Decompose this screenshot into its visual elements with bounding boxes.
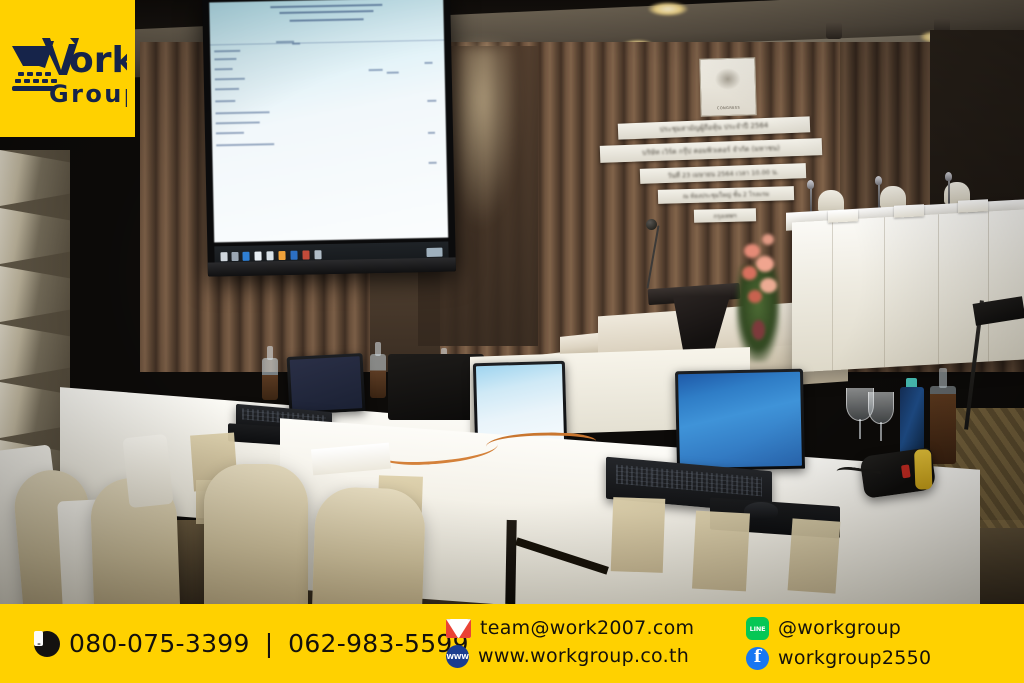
line-row: LINE @workgroup — [746, 617, 1004, 640]
footer-contact-column: team@work2007.com WWW www.workgroup.co.t… — [446, 619, 746, 668]
glass-stem — [880, 422, 882, 441]
skirt-fold — [938, 214, 939, 364]
projected-text-line — [216, 121, 260, 124]
water-bottle — [262, 346, 278, 400]
projected-text-line — [428, 132, 435, 134]
projected-text-line — [427, 100, 436, 102]
email-row: team@work2007.com — [446, 619, 746, 638]
taskbar-icon — [278, 251, 285, 260]
mobile-phone-icon — [34, 631, 60, 657]
laptop-lid — [675, 369, 805, 472]
logo-word-top: ork — [69, 40, 127, 81]
taskbar-icon — [220, 252, 227, 261]
taskbar-icon — [314, 250, 321, 259]
bottle-neck — [939, 368, 947, 388]
flower-petal — [760, 278, 777, 293]
www-icon-circle: WWW — [446, 645, 469, 668]
projected-text-line — [216, 132, 244, 135]
projected-text-line — [214, 58, 236, 60]
chair-sash — [692, 511, 750, 592]
venue-crest-plaque: CONGRESS — [699, 57, 756, 116]
curtain-light-glow — [446, 46, 516, 226]
name-card — [958, 199, 988, 213]
flower-petal — [742, 266, 757, 280]
taskbar-icon — [242, 252, 249, 261]
chair-frame — [122, 434, 173, 508]
glass-bowl — [868, 392, 894, 424]
projected-text-line — [429, 162, 437, 164]
table-microphone-head — [945, 172, 952, 181]
foreground-chair — [204, 464, 308, 610]
projected-text-line — [215, 78, 245, 81]
chair-sash — [788, 518, 841, 593]
wall-facet — [0, 324, 70, 380]
crest-caption: CONGRESS — [702, 105, 756, 110]
projected-text-line — [387, 72, 399, 74]
bottle-body — [930, 386, 956, 464]
laptop-lid — [287, 353, 366, 415]
table-microphone-head — [875, 176, 882, 185]
table-leg — [505, 520, 516, 604]
projected-text-line — [425, 62, 433, 64]
projected-text-line — [369, 69, 383, 71]
bottle-body — [262, 358, 278, 400]
glass-stem — [859, 419, 861, 438]
phone-primary[interactable]: 080-075-3399 — [69, 631, 250, 656]
gmail-icon-envelope — [446, 619, 471, 638]
taskbar-icon — [254, 251, 261, 260]
projected-table-rule — [210, 40, 444, 46]
email-address[interactable]: team@work2007.com — [480, 619, 694, 638]
projected-text-line — [216, 111, 270, 114]
line-icon-label: LINE — [750, 625, 766, 633]
flower-petal — [748, 290, 762, 303]
facebook-icon: f — [746, 647, 769, 670]
www-icon-label: WWW — [446, 653, 468, 661]
water-bottle — [370, 342, 386, 398]
line-app-icon: LINE — [746, 617, 769, 640]
projected-text-line — [215, 100, 235, 102]
facebook-icon-label: f — [754, 649, 761, 666]
tea-bottle — [930, 368, 956, 464]
phone-secondary[interactable]: 062-983-5599 — [288, 631, 469, 656]
wall-facet — [0, 150, 70, 206]
ceiling-spotlight-icon — [648, 2, 688, 16]
facebook-icon-circle: f — [746, 647, 769, 670]
table-microphone-head — [807, 180, 814, 189]
footer-social-column: LINE @workgroup f workgroup2550 — [746, 617, 1004, 670]
projected-text-line — [215, 88, 239, 91]
mobile-phone-icon-circle — [34, 631, 60, 657]
taskbar-icon — [302, 250, 309, 259]
projected-display — [209, 0, 448, 242]
workgroup-logo[interactable]: ork Group — [0, 0, 135, 137]
laptop-keys — [616, 464, 762, 496]
skirt-fold — [832, 220, 833, 370]
taskbar-icon — [266, 251, 273, 260]
wall-facet — [0, 266, 70, 322]
flower-petal — [762, 234, 774, 245]
screenshot-root: CONGRESS ประชุมสามัญผู้ถือหุ้น ประจำปี 2… — [0, 0, 1024, 683]
light-housing — [826, 22, 842, 39]
stage-banner-line: กรุงเทพฯ — [694, 208, 756, 223]
projected-doc-header — [280, 10, 374, 14]
laptop-screen — [290, 356, 363, 412]
facebook-page[interactable]: workgroup2550 — [778, 649, 931, 668]
skirt-fold — [884, 217, 885, 367]
projected-text-line — [215, 68, 233, 70]
crest-emblem-icon — [715, 68, 742, 91]
skirt-fold — [988, 211, 989, 361]
flower-petal — [756, 256, 774, 272]
taskbar-icon — [231, 252, 238, 261]
projected-text-line — [292, 43, 300, 45]
logo-artwork: ork Group — [9, 30, 127, 108]
head-table-skirting — [792, 210, 1024, 373]
conference-room-photo: CONGRESS ประชุมสามัญผู้ถือหุ้น ประจำปี 2… — [0, 0, 1024, 610]
facebook-row: f workgroup2550 — [746, 647, 1004, 670]
foreground-chair — [312, 486, 426, 610]
taskbar-icon — [290, 251, 297, 260]
website-row: WWW www.workgroup.co.th — [446, 645, 746, 668]
banner-text: กรุงเทพฯ — [694, 210, 756, 222]
line-id[interactable]: @workgroup — [778, 619, 901, 638]
projected-doc-header — [289, 18, 364, 22]
contact-footer-bar: 080-075-3399 | 062-983-5599 team@work200… — [0, 604, 1024, 683]
chair-sash — [611, 497, 666, 573]
flower-petal — [744, 244, 760, 258]
logo-word-bottom: Group — [49, 80, 127, 108]
bottle-body — [370, 354, 386, 398]
scanner-yellow-band — [914, 449, 932, 490]
name-card — [894, 204, 924, 218]
flower-petal — [752, 320, 765, 340]
laptop-screen — [678, 372, 802, 469]
projected-text-line — [216, 143, 274, 146]
footer-phone-column: 080-075-3399 | 062-983-5599 — [34, 629, 446, 658]
phone-separator: | — [259, 629, 279, 658]
scanner-trigger-button — [901, 464, 911, 478]
wall-facet — [0, 208, 70, 264]
gmail-icon — [446, 619, 471, 638]
banner-text: ณ ห้องประชุมใหญ่ ชั้น 2 โรงแรม — [658, 188, 794, 202]
taskbar-clock — [426, 248, 442, 257]
phone-row: 080-075-3399 | 062-983-5599 — [34, 629, 446, 658]
projected-doc-header — [270, 4, 382, 8]
podium-mic-head — [646, 219, 657, 230]
website-url[interactable]: www.workgroup.co.th — [478, 647, 689, 666]
wine-glass — [868, 392, 894, 444]
projected-text-line — [214, 50, 240, 53]
line-icon-badge: LINE — [746, 617, 769, 640]
gmail-icon-fold — [450, 619, 468, 632]
www-globe-icon: WWW — [446, 645, 469, 668]
shopping-cart-keyboard-icon: ork Group — [9, 30, 127, 108]
name-card — [828, 209, 858, 223]
projector-screen — [202, 0, 456, 277]
